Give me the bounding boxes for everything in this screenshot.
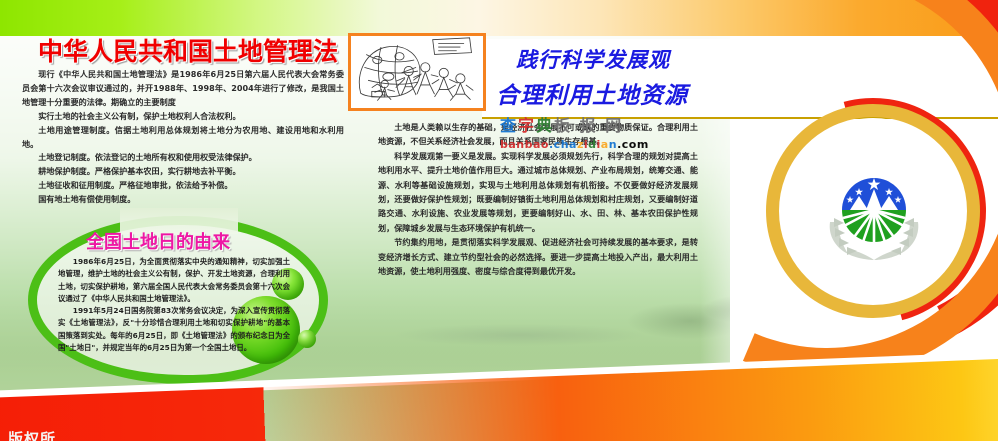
oval-callout-title: 全国土地日的由来	[86, 228, 296, 254]
middle-paragraph: 科学发展观第一要义是发展。实现科学发展必须规划先行，科学合理的规划对提高土地利用…	[378, 149, 698, 235]
gold-divider-rule	[482, 117, 998, 119]
oval-callout-body: 1986年6月25日，为全面贯彻落实中央的通知精神，切实加强土地管理，维护土地的…	[58, 256, 290, 354]
left-paragraph: 现行《中华人民共和国土地管理法》是1986年6月25日第六届人民代表大会常务委员…	[22, 68, 344, 110]
left-paragraph: 耕地保护制度。严格保护基本农田，实行耕地去补平衡。	[22, 165, 344, 179]
ministry-emblem	[822, 158, 926, 262]
right-title-line-2: 合理利用土地资源	[496, 76, 796, 110]
middle-paragraph: 土地是人类赖以生存的基础，是经济社会发展不可或缺的重要物质保证。合理利用土地资源…	[378, 120, 698, 149]
left-paragraph: 土地征收和征用制度。严格征地审批，依法给予补偿。	[22, 179, 344, 193]
middle-article-body: 土地是人类赖以生存的基础，是经济社会发展不可或缺的重要物质保证。合理利用土地资源…	[378, 120, 698, 278]
emblem-globe	[842, 178, 906, 243]
poster-canvas: 中华人民共和国土地管理法 现行《中华人民共和国土地管理法》是1986年6月25日…	[0, 0, 998, 441]
green-bubble-small	[298, 330, 316, 348]
footer-text: 版权所	[8, 428, 56, 441]
right-title-line-1: 践行科学发展观	[516, 44, 776, 74]
left-paragraph: 国有地土地有偿使用制度。	[22, 193, 344, 207]
left-article-body: 现行《中华人民共和国土地管理法》是1986年6月25日第六届人民代表大会常务委员…	[22, 68, 344, 207]
middle-paragraph: 节约集约用地，是贯彻落实科学发展观、促进经济社会可持续发展的基本要求，是转变经济…	[378, 235, 698, 278]
oval-paragraph: 1986年6月25日，为全面贯彻落实中央的通知精神，切实加强土地管理，维护土地的…	[58, 256, 290, 305]
left-paragraph: 土地登记制度。依法登记的土地所有权和使用权受法律保护。	[22, 151, 344, 165]
cartoon-illustration-box	[348, 33, 486, 111]
left-paragraph: 土地用途管理制度。信据土地利用总体规划将土地分为农用地、建设用地和水利用地。	[22, 124, 344, 152]
oval-paragraph: 1991年5月24日国务院第83次常务会议决定，为深入宣传贯彻落实《土地管理法》…	[58, 305, 290, 354]
left-paragraph: 实行土地的社会主义公有制，保护土地权利人合法权利。	[22, 110, 344, 124]
page-title: 中华人民共和国土地管理法	[38, 32, 338, 68]
